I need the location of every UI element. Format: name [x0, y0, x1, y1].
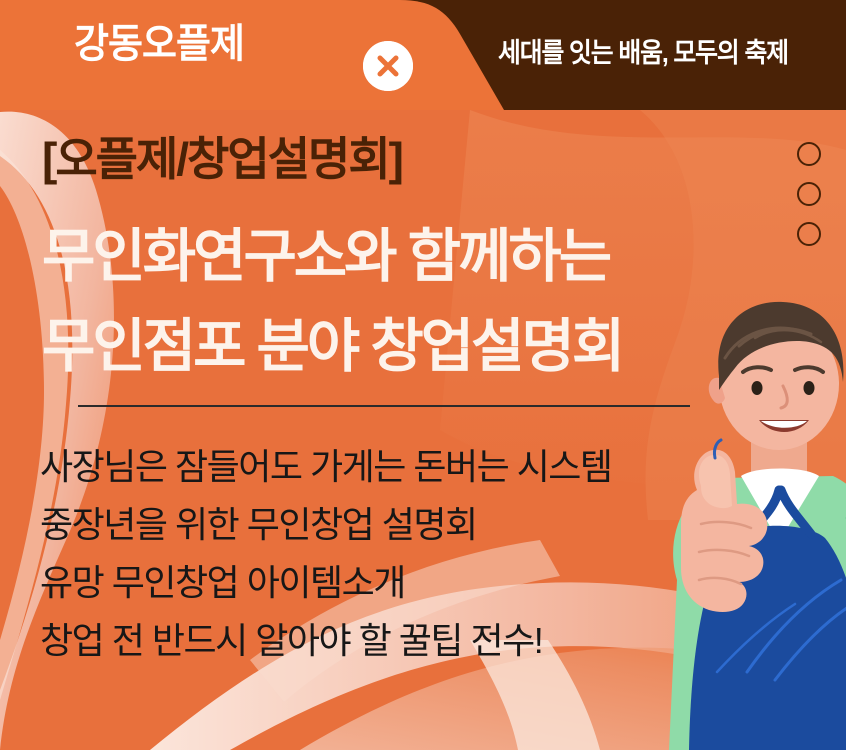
- promo-poster: 강동오플제 세대를 잇는 배움, 모두의 축제: [0, 0, 846, 750]
- header-tagline: 세대를 잇는 배움, 모두의 축제: [498, 40, 788, 67]
- body-line-4: 창업 전 반드시 알아야 할 꿀팁 전수!: [40, 623, 542, 659]
- dot-3: [797, 222, 821, 246]
- body-line-1: 사장님은 잠들어도 가게는 돈버는 시스템: [40, 449, 612, 485]
- x-circle-icon: [363, 41, 413, 91]
- category-kicker: [오플제/창업설명회]: [42, 136, 402, 182]
- dot-indicator-group: [797, 142, 821, 246]
- headline-line-1: 무인화연구소와 함께하는: [42, 228, 609, 286]
- body-line-3: 유망 무인창업 아이템소개: [40, 565, 405, 601]
- dot-1: [797, 142, 821, 166]
- dot-2: [797, 182, 821, 206]
- body-line-2: 중장년을 위한 무인창업 설명회: [40, 507, 477, 543]
- thumbs-up-shopkeeper-illustration: [655, 280, 846, 750]
- brand-title: 강동오플제: [74, 24, 244, 64]
- headline-line-2: 무인점포 분야 창업설명회: [42, 318, 622, 376]
- header-bar: 강동오플제 세대를 잇는 배움, 모두의 축제: [0, 0, 846, 110]
- section-divider: [78, 405, 690, 407]
